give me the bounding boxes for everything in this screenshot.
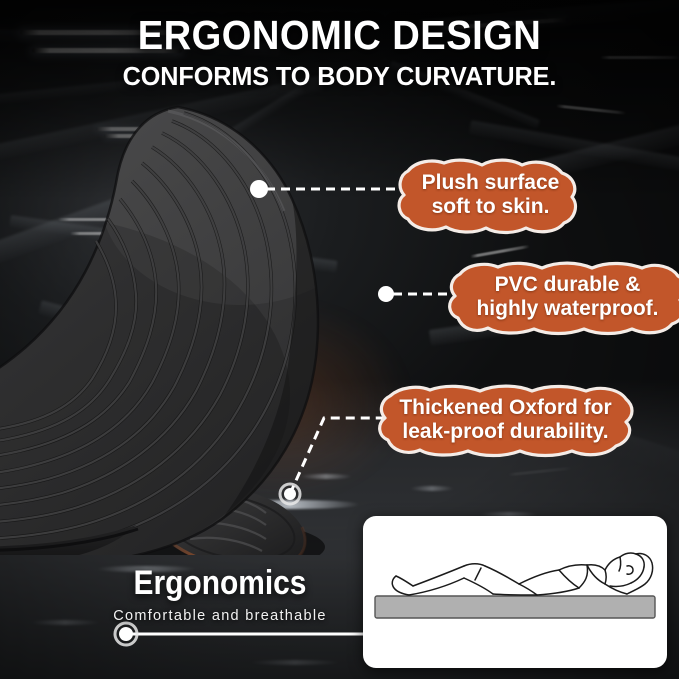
marketing-image: ERGONOMIC DESIGN CONFORMS TO BODY CURVAT… <box>0 0 679 679</box>
feature-label-title: Ergonomics <box>106 566 335 600</box>
callout-pvc-waterproof: PVC durable & highly waterproof. <box>450 258 679 336</box>
diagram-figure <box>392 553 652 595</box>
feature-label-subtitle: Comfortable and breathable <box>80 608 360 624</box>
callout-plush-surface: Plush surface soft to skin. <box>398 155 583 235</box>
callout-oxford-leakproof: Thickened Oxford for leak-proof durabili… <box>378 382 633 458</box>
product-inflatable-mattress <box>0 95 420 555</box>
diagram-mattress-slab <box>375 596 655 618</box>
page-subtitle: CONFORMS TO BODY CURVATURE. <box>10 62 669 91</box>
inset-diagram-panel <box>363 516 667 668</box>
lying-figure-diagram <box>363 516 667 668</box>
page-title: ERGONOMIC DESIGN <box>24 14 655 57</box>
